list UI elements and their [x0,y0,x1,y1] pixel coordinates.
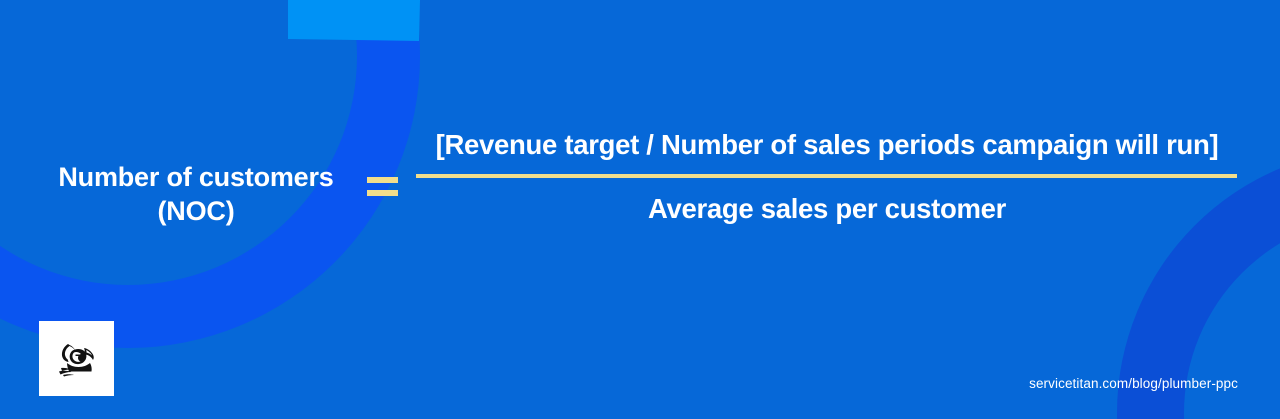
formula-graphic: Number of customers (NOC) [Revenue targe… [0,0,1280,419]
brand-logo-box [39,321,114,396]
source-url-label: servicetitan.com/blog/plumber-ppc [1029,376,1238,391]
background-decoration [0,0,1280,419]
servicetitan-logo-icon [54,339,100,379]
accent-cyan-band [288,0,420,41]
background-base [0,0,1280,419]
